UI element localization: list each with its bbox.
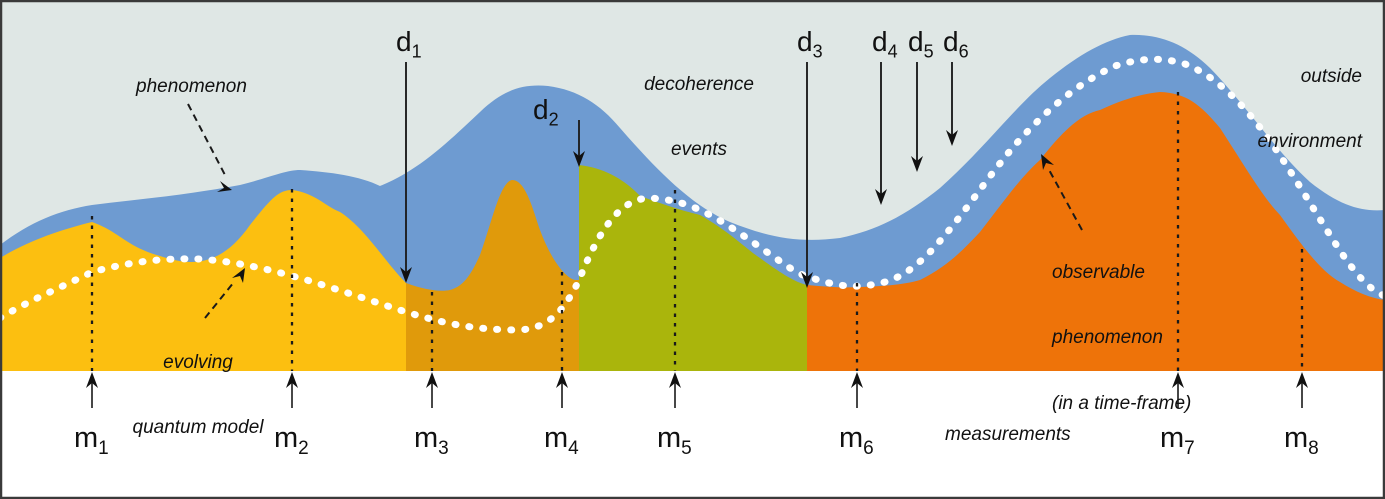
evolving-quantum-model-line2: quantum model xyxy=(118,417,278,439)
decoherence-label-d5-sub: 5 xyxy=(924,42,934,62)
measurement-label-m5-sub: 5 xyxy=(681,438,692,459)
measurement-label-m2: m2 xyxy=(274,422,309,460)
decoherence-label-d3-sub: 3 xyxy=(813,42,823,62)
decoherence-label-d1-sub: 1 xyxy=(412,42,422,62)
measurement-label-m7-sub: 7 xyxy=(1184,438,1195,459)
evolving-quantum-model-label: evolving quantum model xyxy=(118,308,278,483)
decoherence-events-label: decoherence events xyxy=(634,30,764,205)
phenomenon-label: phenomenon xyxy=(136,76,247,98)
measurement-label-m1-sub: 1 xyxy=(98,438,109,459)
measurement-label-m2-sub: 2 xyxy=(298,438,309,459)
decoherence-label-d4-letter: d xyxy=(872,26,888,57)
decoherence-label-d5: d5 xyxy=(908,26,934,63)
decoherence-events-line2: events xyxy=(634,139,764,161)
measurement-label-m1: m1 xyxy=(74,422,109,460)
measurement-label-m8-letter: m xyxy=(1284,422,1308,454)
decoherence-label-d2-letter: d xyxy=(533,94,549,125)
measurement-label-m1-letter: m xyxy=(74,422,98,454)
measurement-label-m3-letter: m xyxy=(414,422,438,454)
measurement-label-m2-letter: m xyxy=(274,422,298,454)
decoherence-label-d6-sub: 6 xyxy=(959,42,969,62)
decoherence-label-d6-letter: d xyxy=(943,26,959,57)
measurement-label-m6: m6 xyxy=(839,422,874,460)
decoherence-label-d3: d3 xyxy=(797,26,823,63)
decoherence-events-line1: decoherence xyxy=(634,74,764,96)
measurement-label-m6-letter: m xyxy=(839,422,863,454)
measurement-label-m8: m8 xyxy=(1284,422,1319,460)
measurement-label-m5: m5 xyxy=(657,422,692,460)
measurement-label-m5-letter: m xyxy=(657,422,681,454)
decoherence-label-d6: d6 xyxy=(943,26,969,63)
outside-environment-label: outside environment xyxy=(1212,22,1362,197)
outside-environment-line2: environment xyxy=(1212,131,1362,153)
measurement-label-m4: m4 xyxy=(544,422,579,460)
decoherence-label-d2-sub: 2 xyxy=(549,110,559,130)
decoherence-label-d4-sub: 4 xyxy=(888,42,898,62)
decoherence-label-d4: d4 xyxy=(872,26,898,63)
decoherence-label-d2: d2 xyxy=(533,94,559,131)
measurement-label-m3-sub: 3 xyxy=(438,438,449,459)
decoherence-label-d1-letter: d xyxy=(396,26,412,57)
observable-phenomenon-line1: observable xyxy=(1052,262,1282,284)
observable-phenomenon-line3: (in a time-frame) xyxy=(1052,393,1282,415)
measurement-label-m8-sub: 8 xyxy=(1308,438,1319,459)
measurement-label-m7: m7 xyxy=(1160,422,1195,460)
diagram-canvas: phenomenon evolving quantum model decohe… xyxy=(0,0,1385,499)
measurement-label-m3: m3 xyxy=(414,422,449,460)
observable-phenomenon-line2: phenomenon xyxy=(1052,327,1282,349)
measurement-label-m4-letter: m xyxy=(544,422,568,454)
evolving-quantum-model-line1: evolving xyxy=(118,352,278,374)
decoherence-label-d5-letter: d xyxy=(908,26,924,57)
measurement-label-m7-letter: m xyxy=(1160,422,1184,454)
measurement-label-m4-sub: 4 xyxy=(568,438,579,459)
outside-environment-line1: outside xyxy=(1212,66,1362,88)
decoherence-label-d1: d1 xyxy=(396,26,422,63)
measurement-label-m6-sub: 6 xyxy=(863,438,874,459)
decoherence-label-d3-letter: d xyxy=(797,26,813,57)
measurements-axis-label: measurements xyxy=(945,424,1071,446)
